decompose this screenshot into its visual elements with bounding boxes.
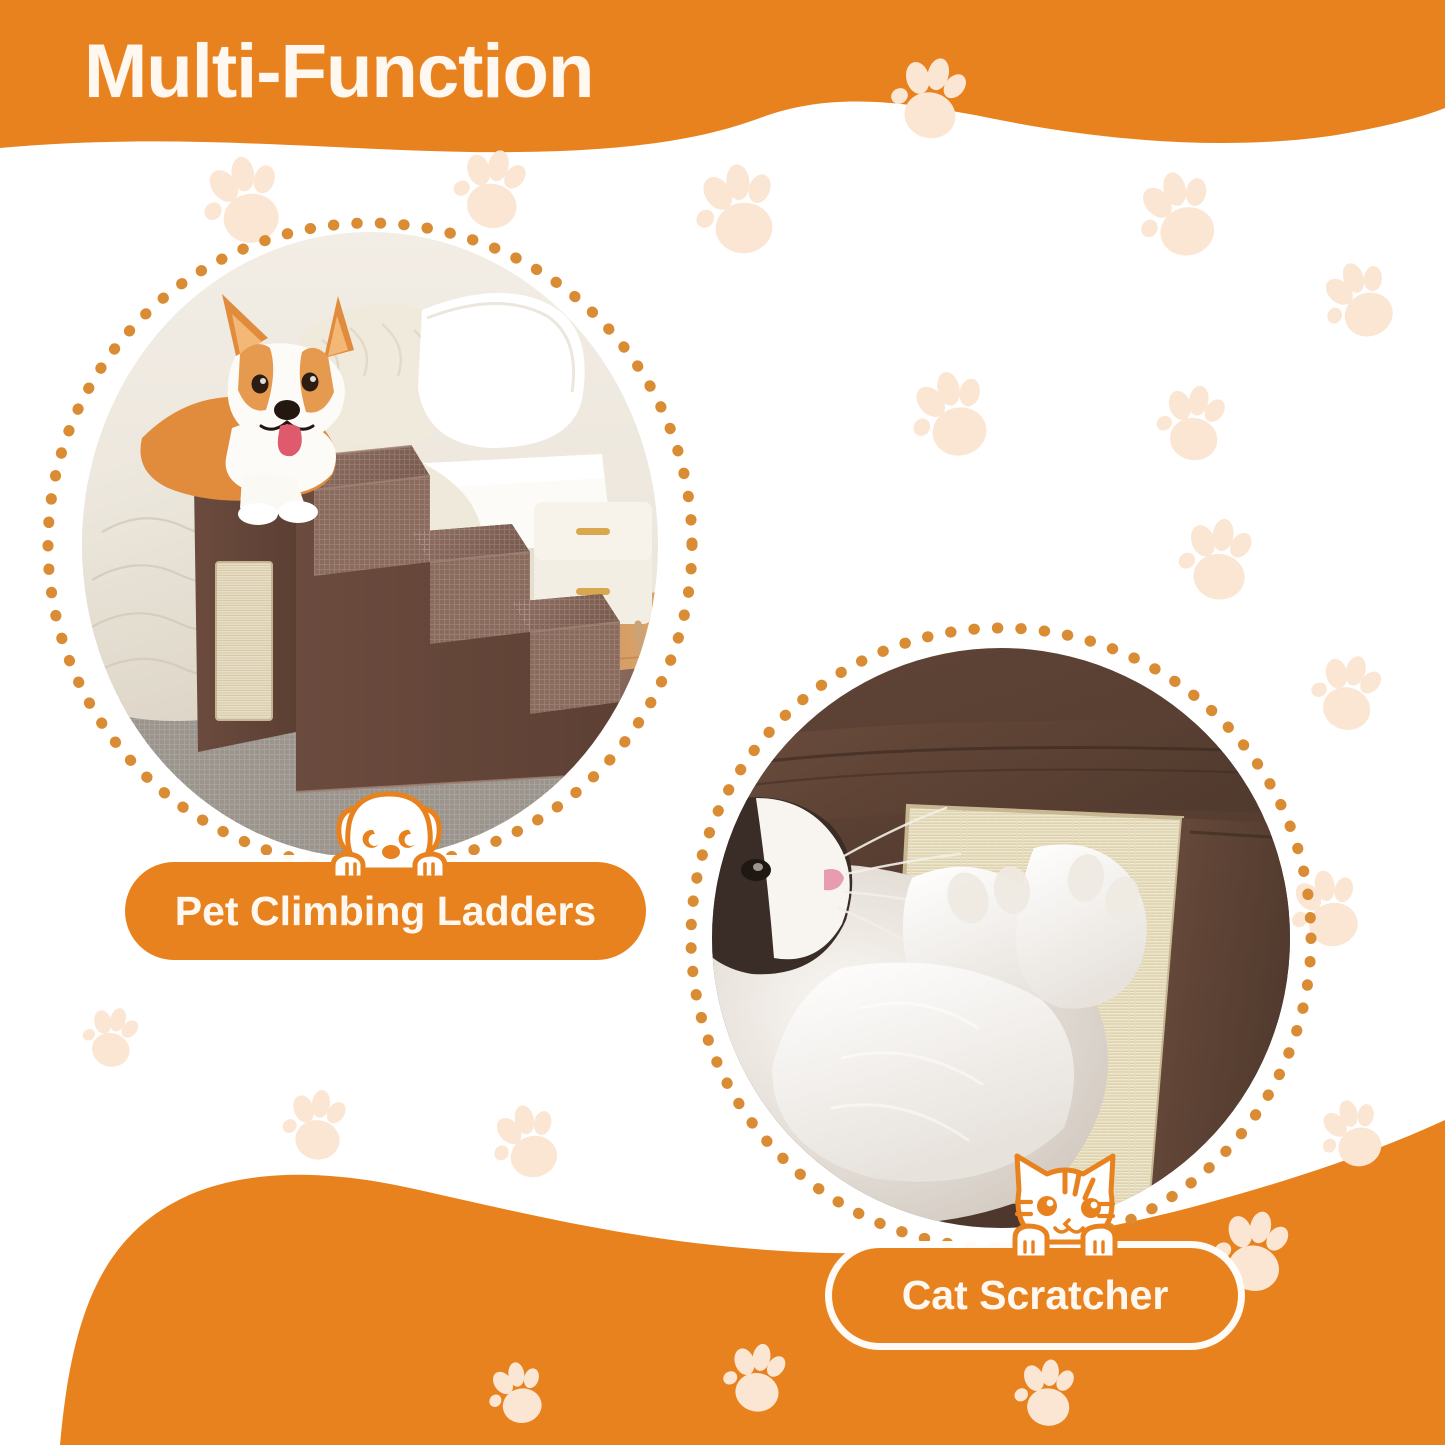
label-pet-climbing-ladders[interactable]: Pet Climbing Ladders [125, 862, 646, 960]
cat-scratching-sisal-photo [712, 648, 1290, 1228]
dog-on-pet-stairs-photo [82, 232, 658, 858]
pill-label-text: Pet Climbing Ladders [175, 888, 596, 935]
page-title: Multi-Function [84, 34, 593, 110]
pill-label-text: Cat Scratcher [902, 1272, 1169, 1319]
photo-cat-scratcher[interactable] [712, 648, 1290, 1228]
infographic-canvas: Multi-Function [0, 0, 1445, 1445]
photo-pet-climbing-ladders[interactable] [82, 232, 658, 858]
label-cat-scratcher[interactable]: Cat Scratcher [832, 1248, 1238, 1343]
